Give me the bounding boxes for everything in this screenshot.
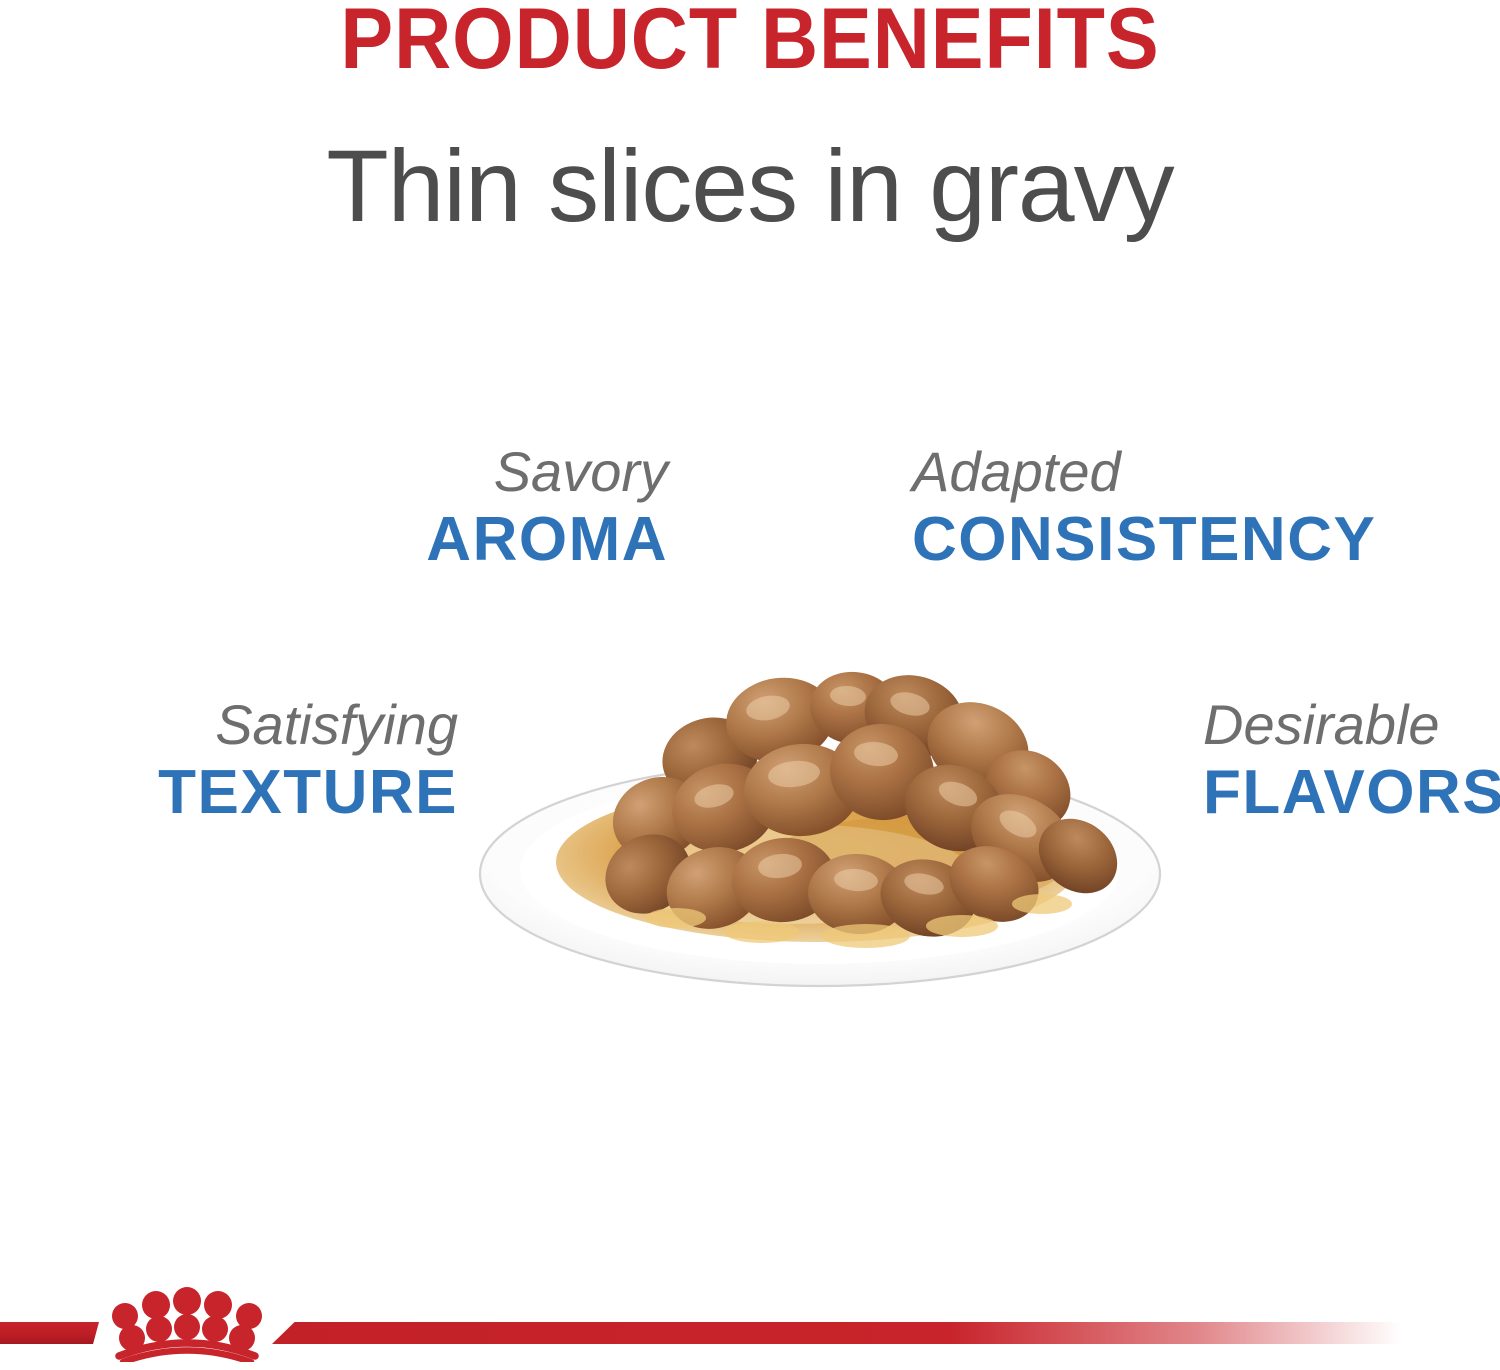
benefit-keyword: CONSISTENCY	[912, 509, 1500, 571]
benefit-flavors: Desirable FLAVORS	[1203, 697, 1500, 824]
footer-bar-left	[0, 1322, 99, 1344]
benefit-descriptor: Savory	[0, 444, 668, 500]
page-title: PRODUCT BENEFITS	[60, 0, 1440, 89]
benefit-aroma: Savory AROMA	[0, 444, 668, 571]
benefit-keyword: FLAVORS	[1203, 762, 1500, 824]
benefit-descriptor: Desirable	[1203, 697, 1500, 753]
benefit-descriptor: Satisfying	[0, 697, 458, 753]
royal-canin-crown-icon	[99, 1284, 273, 1362]
benefit-consistency: Adapted CONSISTENCY	[912, 444, 1500, 571]
product-photo-wet-food	[462, 612, 1178, 1002]
footer-bar-right	[272, 1322, 1402, 1344]
benefit-keyword: AROMA	[0, 509, 668, 571]
benefit-keyword: TEXTURE	[0, 762, 458, 824]
page-subtitle: Thin slices in gravy	[0, 128, 1500, 245]
benefit-descriptor: Adapted	[912, 444, 1500, 500]
benefit-texture: Satisfying TEXTURE	[0, 697, 458, 824]
